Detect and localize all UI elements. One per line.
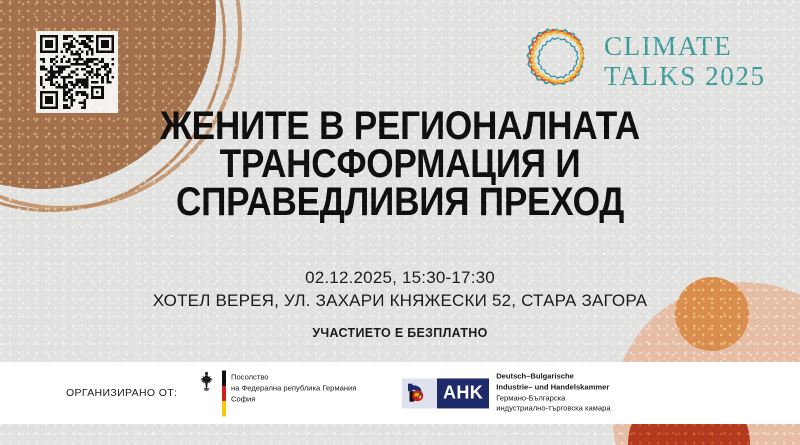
climate-talks-logo: CLIMATE TALKS 2025 <box>521 25 766 97</box>
event-venue: ХОТЕЛ ВЕРЕЯ, УЛ. ЗАХАРИ КНЯЖЕСКИ 52, СТА… <box>0 291 800 311</box>
ahk-line-1: Deutsch–Bulgarische <box>496 371 610 382</box>
footer-band: ОРГАНИЗИРАНО ОТ: Посолство на Федерална … <box>0 362 800 424</box>
logo-line-2: TALKS 2025 <box>604 61 766 91</box>
embassy-line-1: Посолство <box>231 372 356 383</box>
free-participation-notice: УЧАСТИЕТО Е БЕЗПЛАТНО <box>0 326 800 340</box>
qr-code[interactable] <box>36 31 118 113</box>
ahk-bd-monogram-icon <box>402 378 437 408</box>
ahk-line-3: Германо-Българска <box>496 393 610 404</box>
logo-line-1: CLIMATE <box>604 31 766 61</box>
german-federal-eagle-icon <box>196 371 217 393</box>
german-flag-bar-icon <box>222 371 226 417</box>
ahk-line-2: Industrie– und Handelskammer <box>496 382 610 393</box>
ahk-abbreviation: AHK <box>437 378 489 408</box>
title-line-1: ЖЕНИТЕ В РЕГИОНАЛНАТА <box>48 107 752 145</box>
ahk-text: Deutsch–Bulgarische Industrie– und Hande… <box>496 371 610 414</box>
german-embassy-logo: Посолство на Федерална република Германи… <box>196 370 356 417</box>
title-line-2: ТРАНСФОРМАЦИЯ И <box>48 145 752 183</box>
ahk-line-4: индустриално-търговска камара <box>496 404 610 415</box>
title-line-3: СПРАВЕДЛИВИЯ ПРЕХОД <box>48 183 752 221</box>
page-title: ЖЕНИТЕ В РЕГИОНАЛНАТА ТРАНСФОРМАЦИЯ И СП… <box>0 107 800 221</box>
embassy-text: Посолство на Федерална република Германи… <box>231 370 356 405</box>
qr-code-icon <box>40 35 114 109</box>
embassy-line-3: София <box>231 394 356 405</box>
organized-by-label: ОРГАНИЗИРАНО ОТ: <box>66 387 177 399</box>
ahk-logo: AHK Deutsch–Bulgarische Industrie– und H… <box>402 371 611 414</box>
event-details: 02.12.2025, 15:30-17:30 ХОТЕЛ ВЕРЕЯ, УЛ.… <box>0 268 800 340</box>
embassy-line-2: на Федерална република Германия <box>231 383 356 394</box>
event-datetime: 02.12.2025, 15:30-17:30 <box>0 268 800 288</box>
climate-gear-rings-icon <box>521 25 593 97</box>
event-poster: CLIMATE TALKS 2025 ЖЕНИТЕ В РЕГИОНАЛНАТА… <box>0 0 800 445</box>
climate-talks-wordmark: CLIMATE TALKS 2025 <box>604 31 766 91</box>
